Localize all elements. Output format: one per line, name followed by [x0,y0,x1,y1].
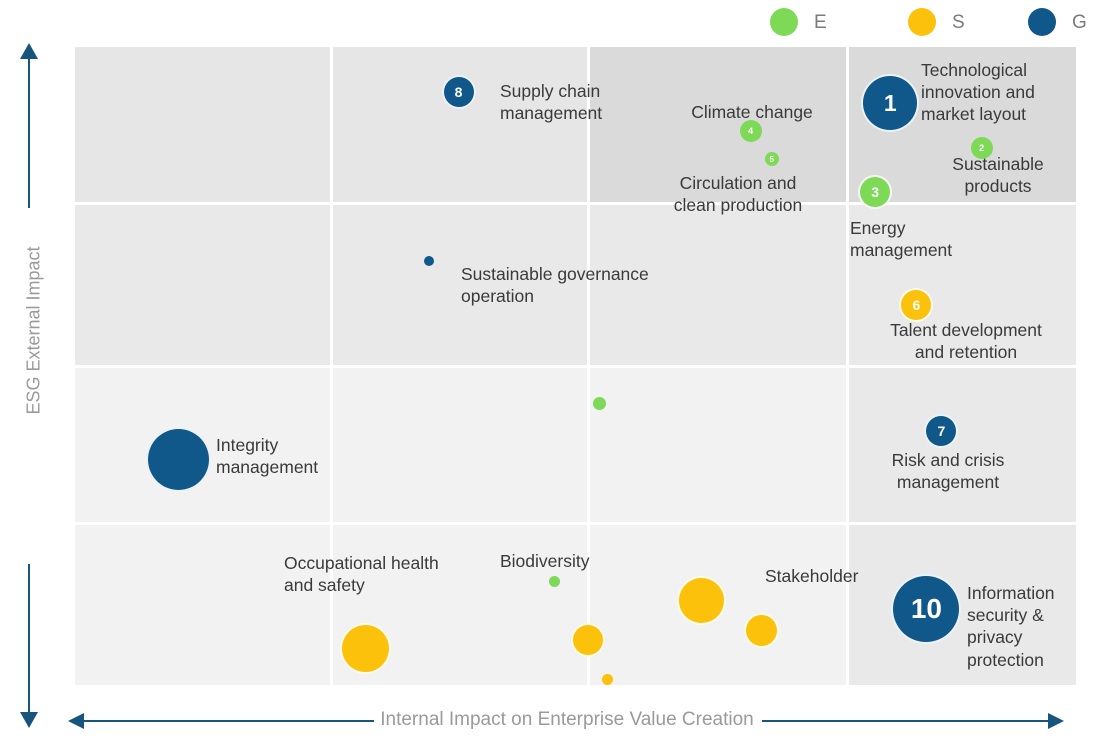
bubble-rank-5[interactable]: 5 [765,152,779,166]
x-axis: Internal Impact on Enterprise Value Crea… [62,706,1072,746]
bubble-rank-6[interactable]: 6 [899,288,933,322]
x-axis-line-right [762,720,1048,722]
bubble-diversityand[interactable] [571,623,605,657]
bubble-occupational[interactable] [340,623,391,674]
bubble-stakeholder[interactable] [744,613,779,648]
bubble-humanrightsa[interactable] [677,576,726,625]
x-axis-line-left [84,720,374,722]
point-label-rank-9: Sustainable governance operation [461,263,671,307]
arrow-left-icon [68,713,84,729]
point-label-rank-3: Energy management [850,217,1010,261]
bubble-rank-10[interactable]: 10 [891,574,961,644]
bubble-rank-label: 5 [770,155,774,164]
bubble-integrity[interactable] [146,427,211,492]
point-label-rank-6: Talent development and retention [880,319,1052,363]
point-label-rank-5: Circulation and clean production [664,172,812,216]
bubble-rank-label: 3 [871,184,879,200]
point-label-rank-2: Sustainable products [930,153,1066,197]
bubble-rank-label: 6 [912,297,920,313]
bubble-rank-label: 10 [911,593,942,625]
x-axis-label: Internal Impact on Enterprise Value Crea… [352,709,782,731]
bubble-rank-3[interactable]: 3 [858,175,892,209]
bubble-rank-label: 8 [455,84,463,100]
bubble-rank-label: 2 [979,143,984,153]
bubble-rank-9[interactable] [424,256,434,266]
point-label-integrity: Integrity management [216,434,332,478]
bubble-rank-4[interactable]: 4 [740,120,762,142]
point-label-rank-8: Supply chain management [500,80,616,124]
point-label-occupational: Occupational health and safety [284,552,470,596]
bubble-rank-7[interactable]: 7 [924,414,958,448]
point-label-rank-10: Information security & privacy protectio… [967,582,1077,671]
bubble-rank-1[interactable]: 1 [861,74,919,132]
bubble-rank-label: 4 [748,126,753,136]
point-label-rank-4: Climate change [686,101,818,123]
arrow-right-icon [1048,713,1064,729]
point-label-biodiversity: Biodiversity [500,550,604,572]
point-label-rank-1: Technological innovation and market layo… [921,59,1101,126]
bubble-rank-8[interactable]: 8 [442,75,476,109]
bubble-rank-label: 1 [884,90,897,117]
point-label-rank-7: Risk and crisis management [886,449,1010,493]
bubble-watermanagem[interactable] [593,397,606,410]
data-points-layer: 1Technological innovation and market lay… [0,0,1109,748]
bubble-rank-label: 7 [938,423,946,439]
bubble-biodiversity[interactable] [549,576,560,587]
point-label-stakeholder: Stakeholder [765,565,873,587]
bubble-socialwelfar[interactable] [602,674,613,685]
